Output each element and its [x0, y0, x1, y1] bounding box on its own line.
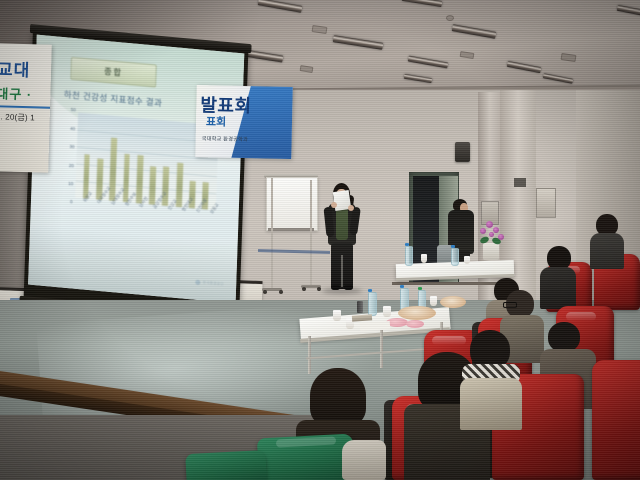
presenter-standing: [324, 183, 360, 291]
wall-sign: [514, 178, 526, 187]
pink-dish: [406, 320, 424, 328]
y-tick-label: 50: [71, 108, 76, 113]
wall-mounted-unit: [536, 188, 556, 218]
presenter-shadow: [322, 288, 362, 294]
audience-head: [548, 322, 580, 352]
banner-left-rule: [0, 105, 50, 109]
audience-body: [590, 233, 624, 269]
paper-cup: [464, 256, 470, 264]
slide-tab-label: 종합: [104, 66, 123, 79]
photo-scene: 종합 하천 건강성 지표점수 결과 50 40 30 20 10 0: [0, 0, 640, 480]
bottle-cap: [400, 285, 404, 288]
seat-back: [592, 360, 640, 480]
wall-speaker: [455, 142, 470, 162]
green-bench-seat[interactable]: [185, 450, 267, 480]
paper-cup: [383, 306, 391, 317]
projection-screen: 종합 하천 건강성 지표점수 결과 50 40 30 20 10 0: [24, 30, 249, 317]
screen-surface: 종합 하천 건강성 지표점수 결과 50 40 30 20 10 0: [28, 35, 244, 304]
y-tick-label: 0: [70, 200, 73, 205]
orchid-bloom: [480, 228, 486, 234]
whiteboard-marker-tray: [268, 228, 314, 231]
orchid-bloom: [498, 234, 504, 240]
water-bottle: [368, 292, 377, 316]
bottle-cap: [368, 289, 372, 292]
whiteboard-caster: [263, 290, 267, 294]
presenter-hand-right: [348, 205, 354, 211]
chart-y-axis: 50 40 30 20 10 0: [57, 107, 77, 201]
audience-head: [310, 368, 366, 426]
y-tick-label: 40: [70, 126, 75, 131]
y-tick-label: 20: [69, 163, 74, 168]
bottle-cap: [451, 245, 455, 248]
paper-cup: [421, 254, 427, 263]
audience-body: [460, 378, 522, 430]
banner-left-line3: 1. 20(금) 1: [0, 111, 35, 123]
food-plate: [398, 306, 436, 320]
whiteboard-leg: [310, 180, 312, 286]
orchid-bloom: [493, 227, 499, 233]
audience-member: [540, 246, 576, 306]
presenter-leg-gap: [341, 255, 343, 287]
right-wall-banner: 발표회 표회 국대학교 환경공학과: [195, 85, 292, 159]
orchid-bloom: [489, 232, 494, 237]
banner-right-caption: 국대학교 환경공학과: [202, 135, 249, 143]
audience-member: [590, 214, 624, 266]
whiteboard-caster: [279, 290, 283, 294]
water-bottle: [405, 246, 413, 266]
orchid-pot: [483, 243, 499, 260]
paper-cup: [333, 310, 341, 321]
audience-body: [540, 267, 576, 309]
presenter-shirt: [336, 208, 348, 240]
table-leg: [380, 330, 383, 368]
orchid-bloom: [486, 221, 493, 228]
banner-right-subhead: 표회: [206, 113, 227, 129]
whiteboard-leg: [271, 178, 273, 288]
whiteboard-caster: [302, 287, 306, 291]
audience-member: [460, 330, 522, 426]
coat-on-bench: [342, 440, 386, 480]
audience-glasses-icon: [503, 302, 517, 308]
banner-left-line1: 교대: [0, 55, 31, 81]
seat-highlight: [566, 312, 596, 321]
paper-cup: [430, 296, 437, 306]
banner-left-line2: 대구 ·: [0, 83, 33, 103]
left-wall-banner: 교대 대구 · 1. 20(금) 1: [0, 43, 52, 173]
presenter-hand-left: [331, 202, 337, 208]
auditorium-seat[interactable]: [592, 360, 640, 480]
y-tick-label: 30: [69, 145, 74, 150]
bottle-cap: [418, 287, 422, 290]
ceiling-vent: [446, 15, 454, 21]
water-bottle: [451, 248, 459, 266]
whiteboard-caster: [317, 287, 321, 291]
food-plate: [440, 296, 466, 308]
y-tick-label: 10: [68, 182, 73, 187]
bottle-cap: [405, 243, 409, 246]
soda-can: [357, 301, 363, 313]
